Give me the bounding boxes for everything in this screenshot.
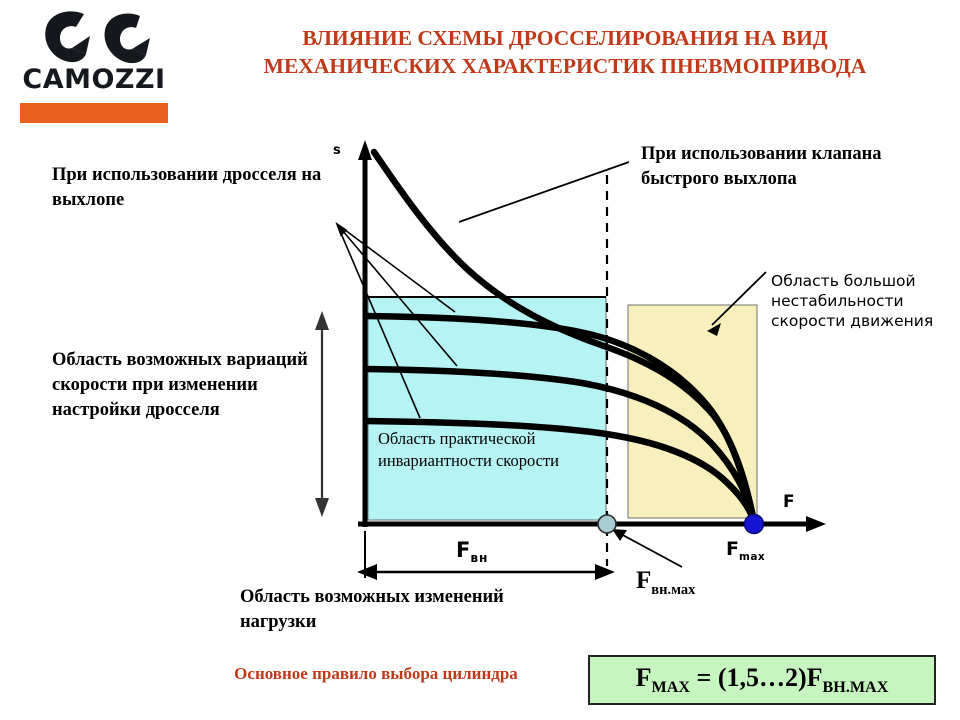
fvnmax-marker[interactable] [598, 515, 616, 533]
fvnmax-point-label: Fвн.мах [636, 567, 695, 599]
formula-lead-sub: MAX [652, 679, 690, 696]
formula-body: = (1,5…2)F [690, 663, 823, 692]
fvn-base: F [456, 538, 470, 562]
fvn-subscript: вн [470, 551, 488, 565]
throttle-leader-lines [337, 224, 457, 418]
y-axis-label: s [333, 143, 341, 158]
instability-leader-line [712, 272, 766, 325]
page-title-line1: ВЛИЯНИЕ СХЕМЫ ДРОССЕЛИРОВАНИЯ НА ВИД [180, 24, 950, 52]
fvnmax-base: F [636, 567, 651, 594]
caption-instability-zone: Область большой нестабильности скорости … [771, 271, 951, 331]
invariance-region [368, 297, 606, 520]
fmax-subscript: max [739, 551, 765, 563]
selection-rule-text: Основное правило выбора цилиндра [176, 664, 576, 684]
fmax-marker[interactable] [745, 515, 764, 534]
quick-exhaust-leader-line [459, 162, 629, 222]
camozzi-cc-mark [40, 8, 158, 66]
formula-text: FMAX = (1,5…2)FВН.МАХ [636, 663, 889, 697]
formula-lead: F [636, 663, 652, 692]
x-axis-label: F [783, 492, 795, 512]
slide-canvas: CAMOZZI ВЛИЯНИЕ СХЕМЫ ДРОССЕЛИРОВАНИЯ НА… [0, 0, 960, 720]
camozzi-logo: CAMOZZI [14, 8, 174, 123]
page-title-line2: МЕХАНИЧЕСКИХ ХАРАКТЕРИСТИК ПНЕВМОПРИВОДА [180, 52, 950, 80]
fvnmax-leader-line [619, 533, 682, 567]
formula-box: FMAX = (1,5…2)FВН.МАХ [588, 655, 936, 705]
formula-body-sub: ВН.МАХ [823, 679, 889, 696]
camozzi-orange-bar [20, 103, 168, 123]
camozzi-wordmark: CAMOZZI [14, 64, 174, 95]
fmax-point-label: Fmax [726, 538, 765, 563]
curve-throttle-setting-1 [366, 316, 754, 522]
axes [358, 140, 826, 532]
instability-region [628, 305, 757, 518]
fvn-dimension-label: Fвн [456, 538, 488, 565]
fmax-base: F [726, 538, 739, 560]
caption-speed-variation-range: Область возможных вариаций скорости при … [52, 348, 332, 423]
fvnmax-subscript: вн.мах [651, 582, 695, 598]
caption-exhaust-throttle: При использовании дросселя на выхлопе [52, 163, 322, 213]
caption-invariance-zone: Область практической инвариантности скор… [378, 428, 603, 472]
caption-load-change-range: Область возможных изменений нагрузки [240, 585, 540, 635]
page-title: ВЛИЯНИЕ СХЕМЫ ДРОССЕЛИРОВАНИЯ НА ВИД МЕХ… [180, 24, 950, 80]
caption-quick-exhaust-valve: При использовании клапана быстрого выхло… [641, 142, 921, 192]
